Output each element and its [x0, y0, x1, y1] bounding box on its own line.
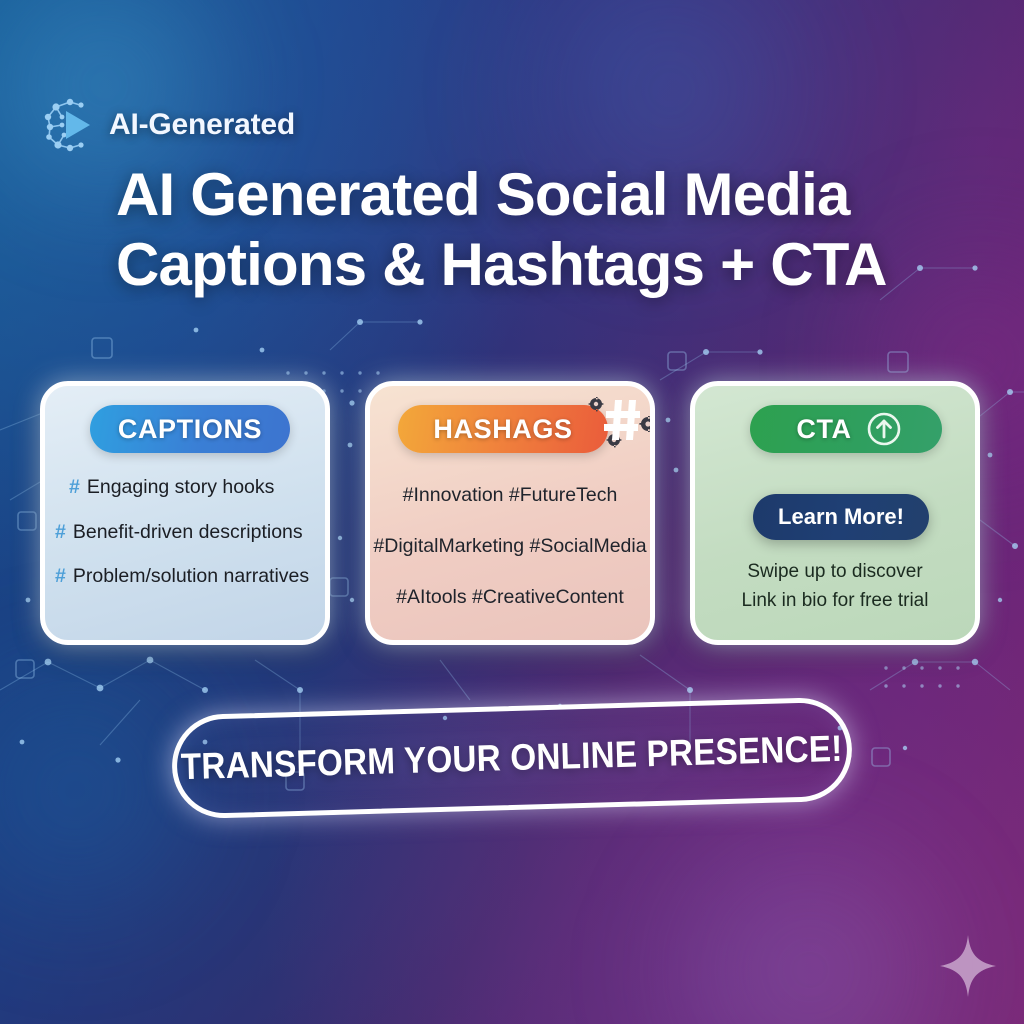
hash-icon: # — [55, 523, 66, 543]
list-item-label: Benefit-driven descriptions — [73, 523, 303, 543]
list-item-label: Engaging story hooks — [87, 478, 275, 498]
page-title-line-2: Captions & Hashtags + CTA — [116, 230, 916, 300]
arrow-up-circle-icon — [866, 411, 902, 447]
ai-network-play-icon — [40, 95, 100, 155]
page-title: AI Generated Social Media Captions & Has… — [116, 160, 916, 300]
card-cta-title: CTA — [796, 414, 851, 445]
poster-canvas: AI-Generated AI Generated Social Media C… — [0, 0, 1024, 1024]
list-item: # Engaging story hooks — [45, 478, 325, 498]
cta-line: Swipe up to discover — [695, 558, 975, 587]
brand-lockup: AI-Generated — [40, 95, 295, 155]
card-captions-list: # Engaging story hooks # Benefit-driven … — [45, 478, 325, 612]
card-captions-title: CAPTIONS — [90, 405, 290, 453]
card-hashtags[interactable]: HASHAGS #Innovation #FutureTech #Digital… — [365, 381, 655, 645]
list-item: #Innovation #FutureTech — [370, 484, 650, 507]
list-item-label: Problem/solution narratives — [73, 567, 309, 587]
list-item: # Benefit-driven descriptions — [45, 523, 325, 543]
brand-label: AI-Generated — [109, 108, 295, 142]
card-hashtags-title: HASHAGS — [398, 405, 608, 453]
hash-icon: # — [69, 478, 80, 498]
card-cta[interactable]: CTA Learn More! Swipe up to discover Lin… — [690, 381, 980, 645]
page-title-line-1: AI Generated Social Media — [116, 160, 916, 230]
list-item: # Problem/solution narratives — [45, 567, 325, 587]
card-cta-header: CTA — [750, 405, 942, 453]
hash-icon: # — [55, 567, 66, 587]
sparkle-star-icon — [940, 935, 996, 997]
card-captions[interactable]: CAPTIONS # Engaging story hooks # Benefi… — [40, 381, 330, 645]
hashtag-gears-icon — [582, 392, 655, 454]
transform-banner[interactable]: TRANSFORM YOUR ONLINE PRESENCE! — [171, 697, 854, 820]
transform-banner-label: TRANSFORM YOUR ONLINE PRESENCE! — [181, 728, 844, 788]
card-cta-lines: Swipe up to discover Link in bio for fre… — [695, 558, 975, 616]
card-hashtags-list: #Innovation #FutureTech #DigitalMarketin… — [370, 484, 650, 637]
learn-more-button[interactable]: Learn More! — [753, 494, 929, 540]
list-item: #AItools #CreativeContent — [370, 586, 650, 609]
cta-line: Link in bio for free trial — [695, 587, 975, 616]
list-item: #DigitalMarketing #SocialMedia — [370, 535, 650, 558]
